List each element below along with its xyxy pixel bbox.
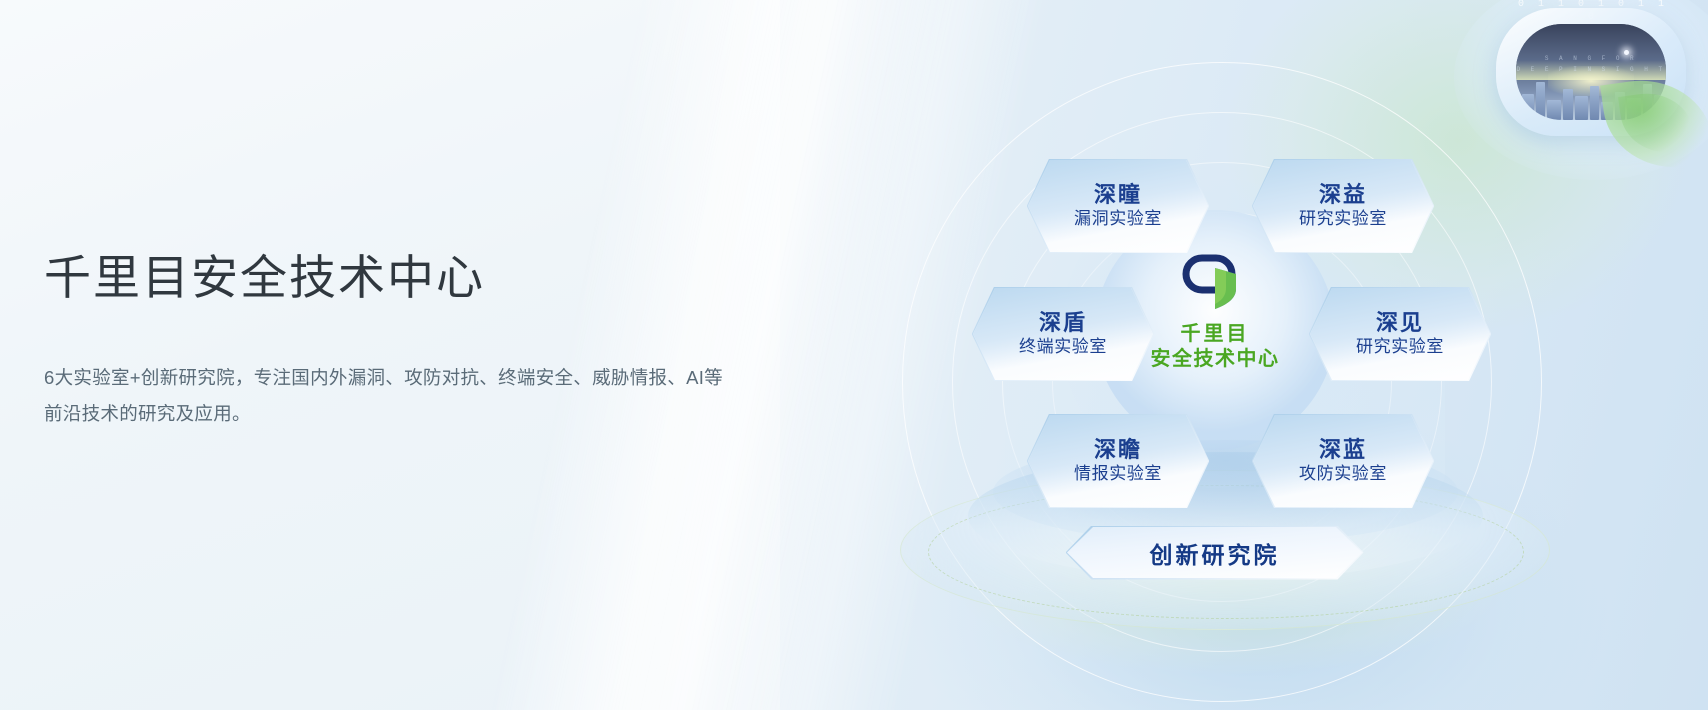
center-brand-line1: 千里目 [1181,322,1250,347]
hero-banner: 千里目安全技术中心 6大实验室+创新研究院，专注国内外漏洞、攻防对抗、终端安全、… [0,0,1708,710]
lab-name: 深益 [1319,183,1367,207]
lab-name: 深见 [1376,311,1424,335]
lab-subtitle: 情报实验室 [1074,465,1162,484]
sangfor-shield-logo-icon [1182,252,1248,314]
lab-name: 深蓝 [1319,438,1367,462]
center-brand: 千里目 安全技术中心 [1140,252,1290,372]
lab-subtitle: 终端实验室 [1019,338,1107,357]
lab-subtitle: 研究实验室 [1299,210,1387,229]
hero-copy: 千里目安全技术中心 6大实验室+创新研究院，专注国内外漏洞、攻防对抗、终端安全、… [44,248,804,432]
center-brand-line2: 安全技术中心 [1151,347,1280,372]
page-description: 6大实验室+创新研究院，专注国内外漏洞、攻防对抗、终端安全、威胁情报、AI等前沿… [44,360,724,432]
decorative-city-capsule: 1 0 1 1 0 1 0 0 1 0 1 1 0 1 0 1 1 0 S A … [1496,8,1686,136]
page-title: 千里目安全技术中心 [44,248,804,308]
capsule-brand-line1: S A N G F O R [1516,53,1666,64]
lab-name: 深瞳 [1094,183,1142,207]
lab-name: 深盾 [1039,311,1087,335]
institute-bar[interactable]: 创新研究院 [1067,527,1362,578]
institute-label: 创新研究院 [1150,536,1280,570]
lab-subtitle: 漏洞实验室 [1074,210,1162,229]
lab-name: 深瞻 [1094,438,1142,462]
lab-subtitle: 攻防实验室 [1299,465,1387,484]
lab-subtitle: 研究实验室 [1356,338,1444,357]
